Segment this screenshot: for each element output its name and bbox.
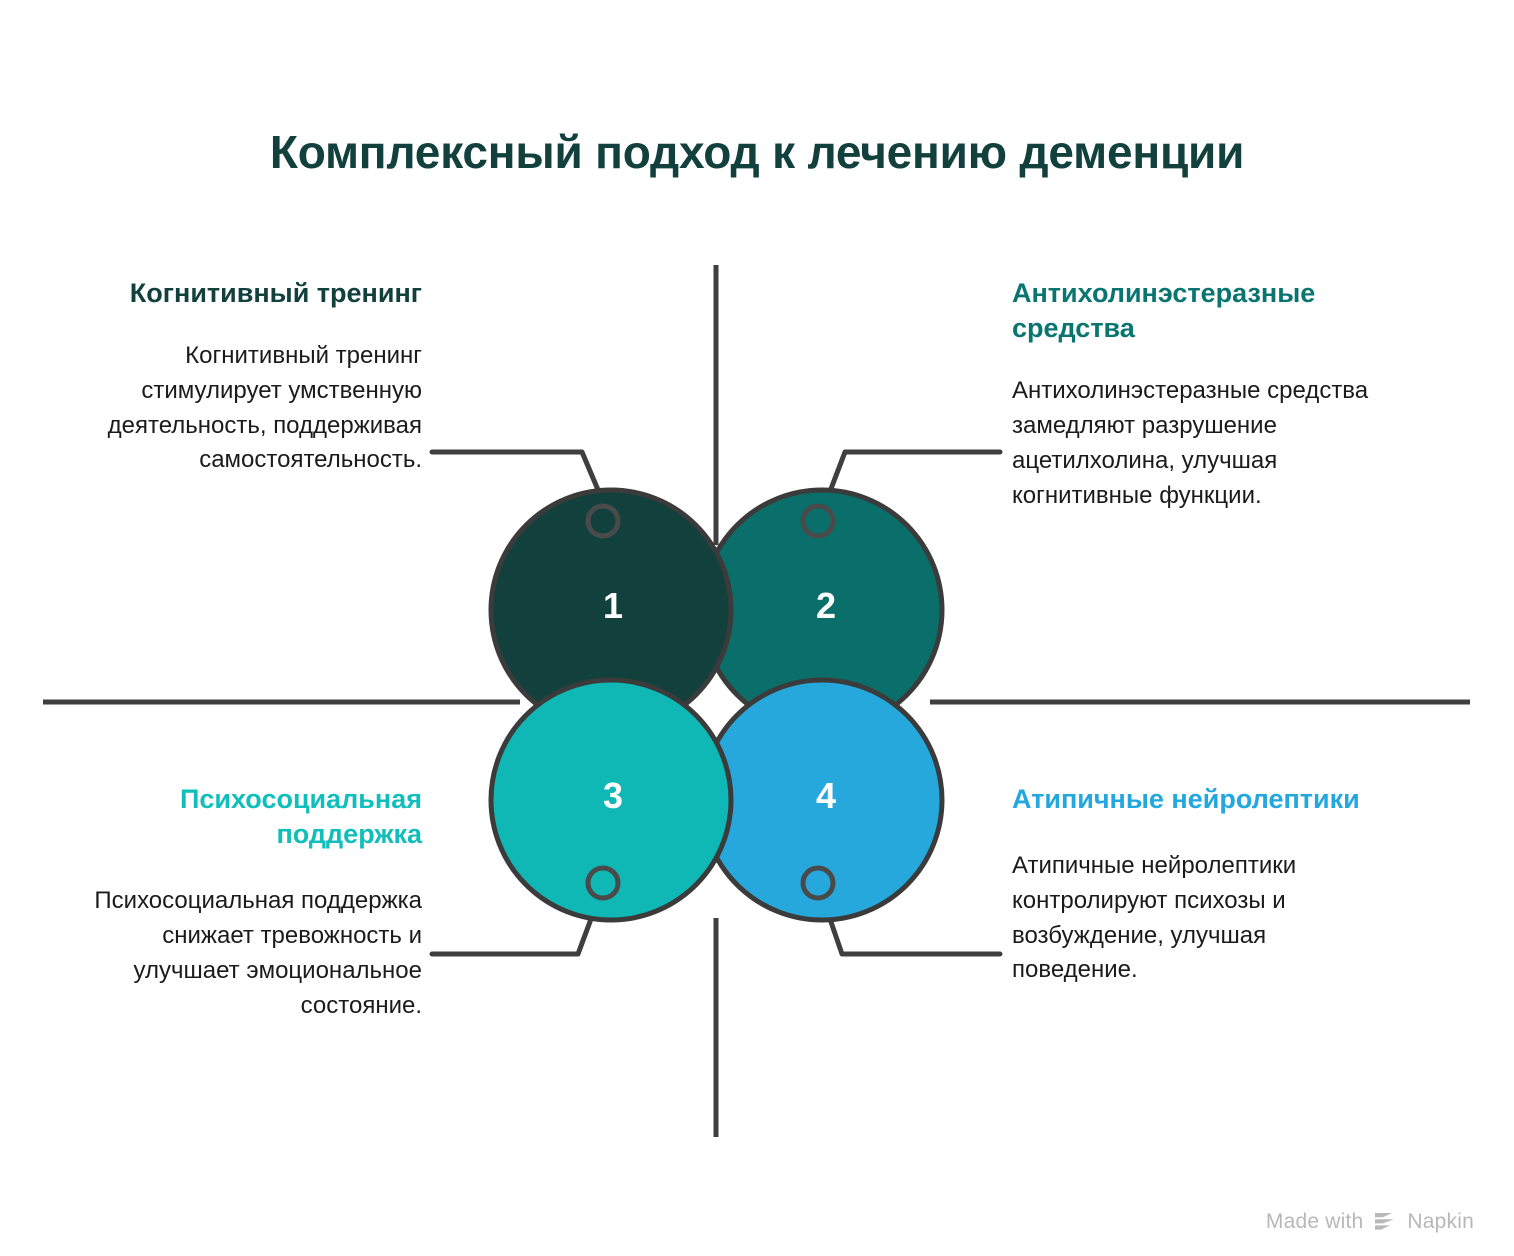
infographic-canvas: Комплексный подход к лечению деменции [0,0,1514,1256]
quadrant-1-heading: Когнитивный тренинг [62,276,422,311]
quadrant-3-body: Психосоциальная поддержка снижает тревож… [62,884,422,1023]
quadrant-bottom-right: Атипичные нейролептики Атипичные нейроле… [1012,782,1392,988]
quadrant-4-heading: Атипичные нейролептики [1012,782,1392,817]
diagram-artwork [0,0,1514,1256]
napkin-stripes-icon [1372,1211,1398,1233]
napkin-watermark: Made with Napkin [1266,1210,1474,1234]
quadrant-2-heading: Антихолинэстеразные средства [1012,276,1392,346]
watermark-made-with-label: Made with [1266,1210,1364,1234]
circle-number-4: 4 [796,778,856,814]
quadrant-2-body: Антихолинэстеразные средства замедляют р… [1012,374,1392,513]
circle-number-1: 1 [583,588,643,624]
circle-number-3: 3 [583,778,643,814]
watermark-brand-label: Napkin [1407,1210,1474,1234]
quadrant-4-body: Атипичные нейролептики контролируют псих… [1012,849,1392,988]
quadrant-3-heading: Психосоциальная поддержка [62,782,422,852]
circle-number-2: 2 [796,588,856,624]
quadrant-1-body: Когнитивный тренинг стимулирует умственн… [62,339,422,478]
quadrant-top-right: Антихолинэстеразные средства Антихолинэс… [1012,276,1392,513]
quadrant-bottom-left: Психосоциальная поддержка Психосоциальна… [62,782,422,1023]
quadrant-top-left: Когнитивный тренинг Когнитивный тренинг … [62,276,422,478]
